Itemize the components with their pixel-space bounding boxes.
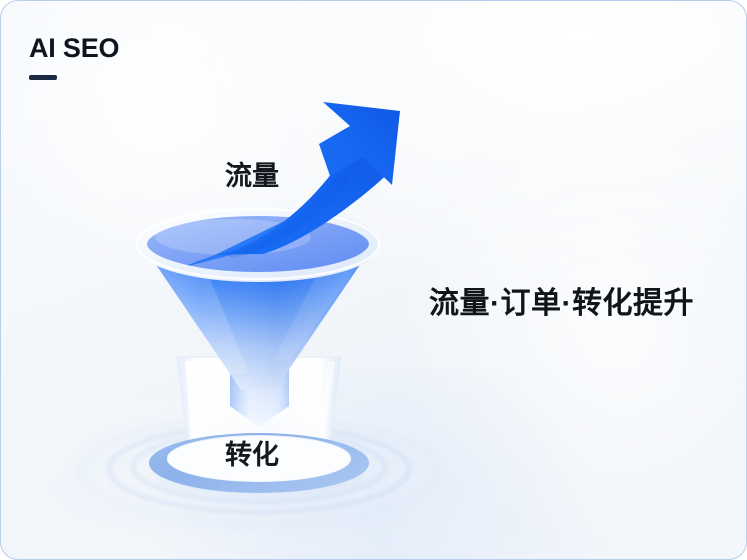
tagline: 流量·订单·转化提升 <box>429 278 694 322</box>
funnel-label-conversion: 转化 <box>225 433 279 472</box>
title-underline-rule <box>29 75 57 80</box>
illustration-card: 流量 转化 AI SEO 流量·订单·转化提升 <box>0 0 747 560</box>
header: AI SEO <box>29 35 119 80</box>
funnel-label-traffic: 流量 <box>225 154 279 193</box>
page-title: AI SEO <box>29 35 119 62</box>
